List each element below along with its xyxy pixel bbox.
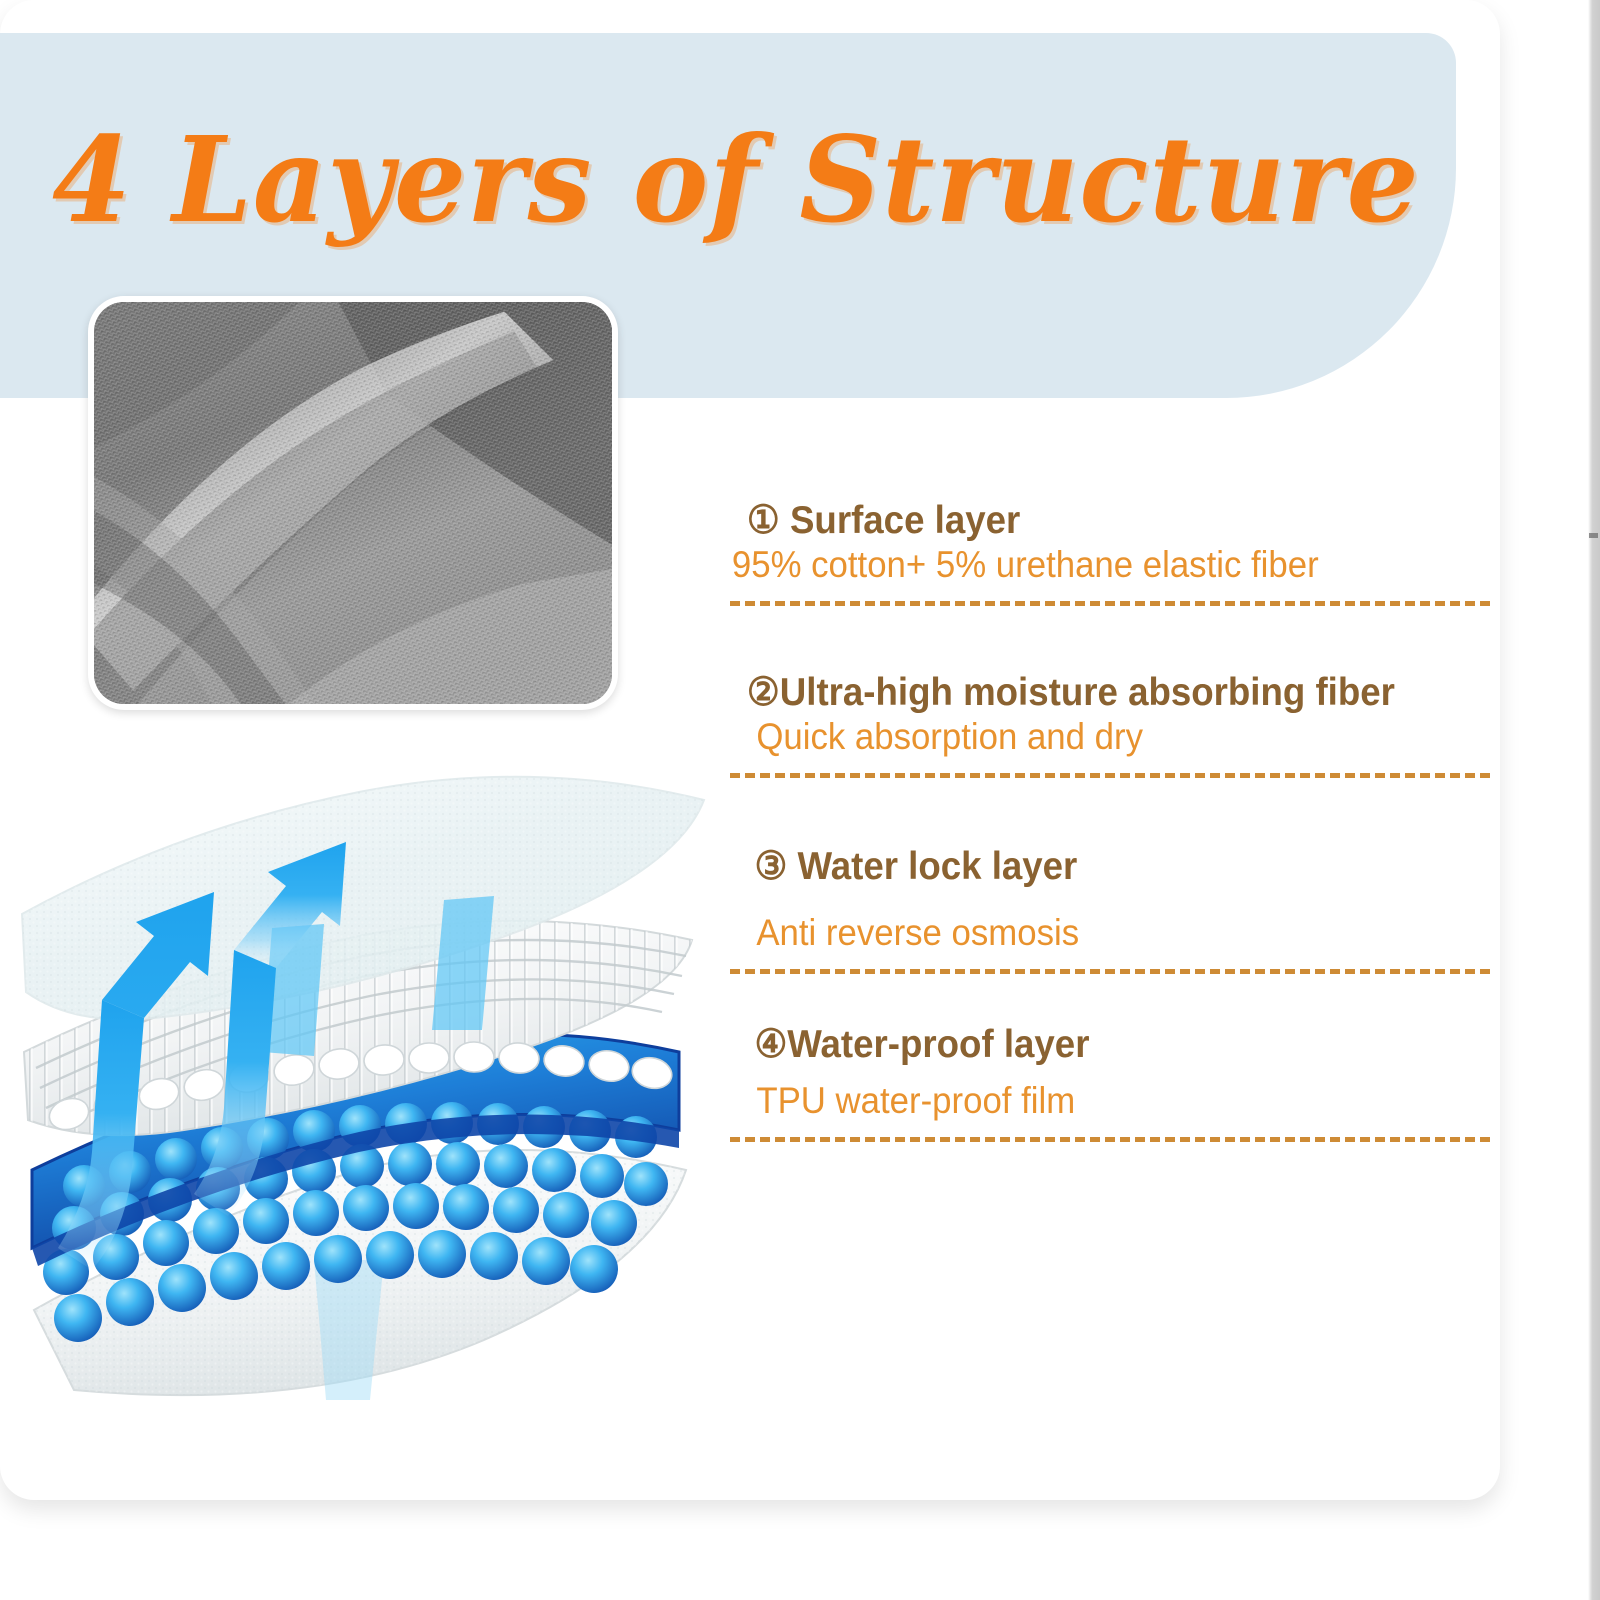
spec-item-surface-layer: ① Surface layer 95% cotton+ 5% urethane … — [730, 498, 1490, 606]
downward-flow-hint — [314, 1260, 384, 1400]
layers-diagram — [14, 700, 724, 1420]
spec-item-waterproof-layer: ④Water-proof layer TPU water-proof film — [730, 1022, 1490, 1142]
spec-divider — [730, 969, 1490, 974]
spec-heading: ④Water-proof layer — [730, 1022, 1444, 1067]
adjacent-image-mark — [1589, 533, 1598, 538]
spec-subtitle: 95% cotton+ 5% urethane elastic fiber — [730, 543, 1444, 587]
spec-item-absorbing-fiber: ②Ultra-high moisture absorbing fiber Qui… — [730, 670, 1490, 778]
fabric-texture-image — [94, 302, 612, 704]
spec-divider — [730, 601, 1490, 606]
spec-heading: ②Ultra-high moisture absorbing fiber — [730, 670, 1444, 715]
fabric-photo — [94, 302, 612, 704]
spec-list: ① Surface layer 95% cotton+ 5% urethane … — [730, 498, 1490, 1142]
adjacent-image-sliver — [1588, 0, 1600, 1600]
fabric-photo-frame — [88, 296, 618, 710]
spec-item-water-lock-layer: ③ Water lock layer Anti reverse osmosis — [730, 844, 1490, 974]
spec-heading: ① Surface layer — [730, 498, 1444, 543]
infographic-root: 4 Layers of Structure — [0, 0, 1600, 1600]
spec-subtitle: Anti reverse osmosis — [730, 911, 1444, 955]
spec-subtitle: TPU water-proof film — [730, 1079, 1444, 1123]
layers-illustration — [14, 700, 724, 1420]
spec-divider — [730, 1137, 1490, 1142]
spec-subtitle: Quick absorption and dry — [730, 715, 1444, 759]
spec-heading: ③ Water lock layer — [730, 844, 1444, 889]
spec-divider — [730, 773, 1490, 778]
